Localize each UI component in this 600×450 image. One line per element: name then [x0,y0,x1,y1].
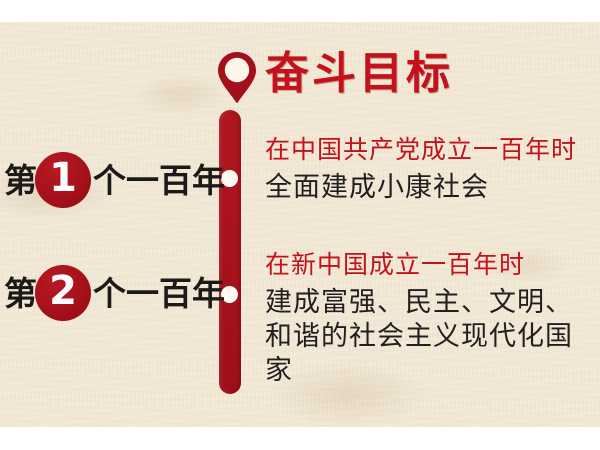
stage-1-number: 1 [49,158,77,198]
goal-2-lead: 在新中国成立一百年时 [265,251,600,279]
stage-label-2: 第 2 个一百年 [0,265,225,321]
goal-block-2: 在新中国成立一百年时 建成富强、民主、文明、 和谐的社会主义现代化国家 [265,251,600,387]
map-pin-icon [213,49,261,105]
poster-canvas: 第 1 个一百年 第 2 个一百年 奋斗目标 在中国共产党成立一百年时 全面建成… [0,0,600,450]
stage-2-prefix: 第 [4,277,37,310]
goal-1-line-1: 全面建成小康社会 [265,170,577,204]
goal-1-lead: 在中国共产党成立一百年时 [265,136,577,164]
page-title: 奋斗目标 [265,52,453,96]
goal-2-line-2: 和谐的社会主义现代化国家 [265,319,600,387]
stage-2-number-badge: 2 [35,265,91,321]
stage-1-suffix: 个一百年 [93,164,225,197]
goal-2-line-1: 建成富强、民主、文明、 [265,285,600,319]
stage-1-prefix: 第 [4,164,37,197]
stage-label-1: 第 1 个一百年 [0,152,225,208]
stage-2-number: 2 [49,271,77,311]
stage-2-suffix: 个一百年 [93,277,225,310]
stage-1-number-badge: 1 [35,152,91,208]
goal-block-1: 在中国共产党成立一百年时 全面建成小康社会 [265,136,577,204]
